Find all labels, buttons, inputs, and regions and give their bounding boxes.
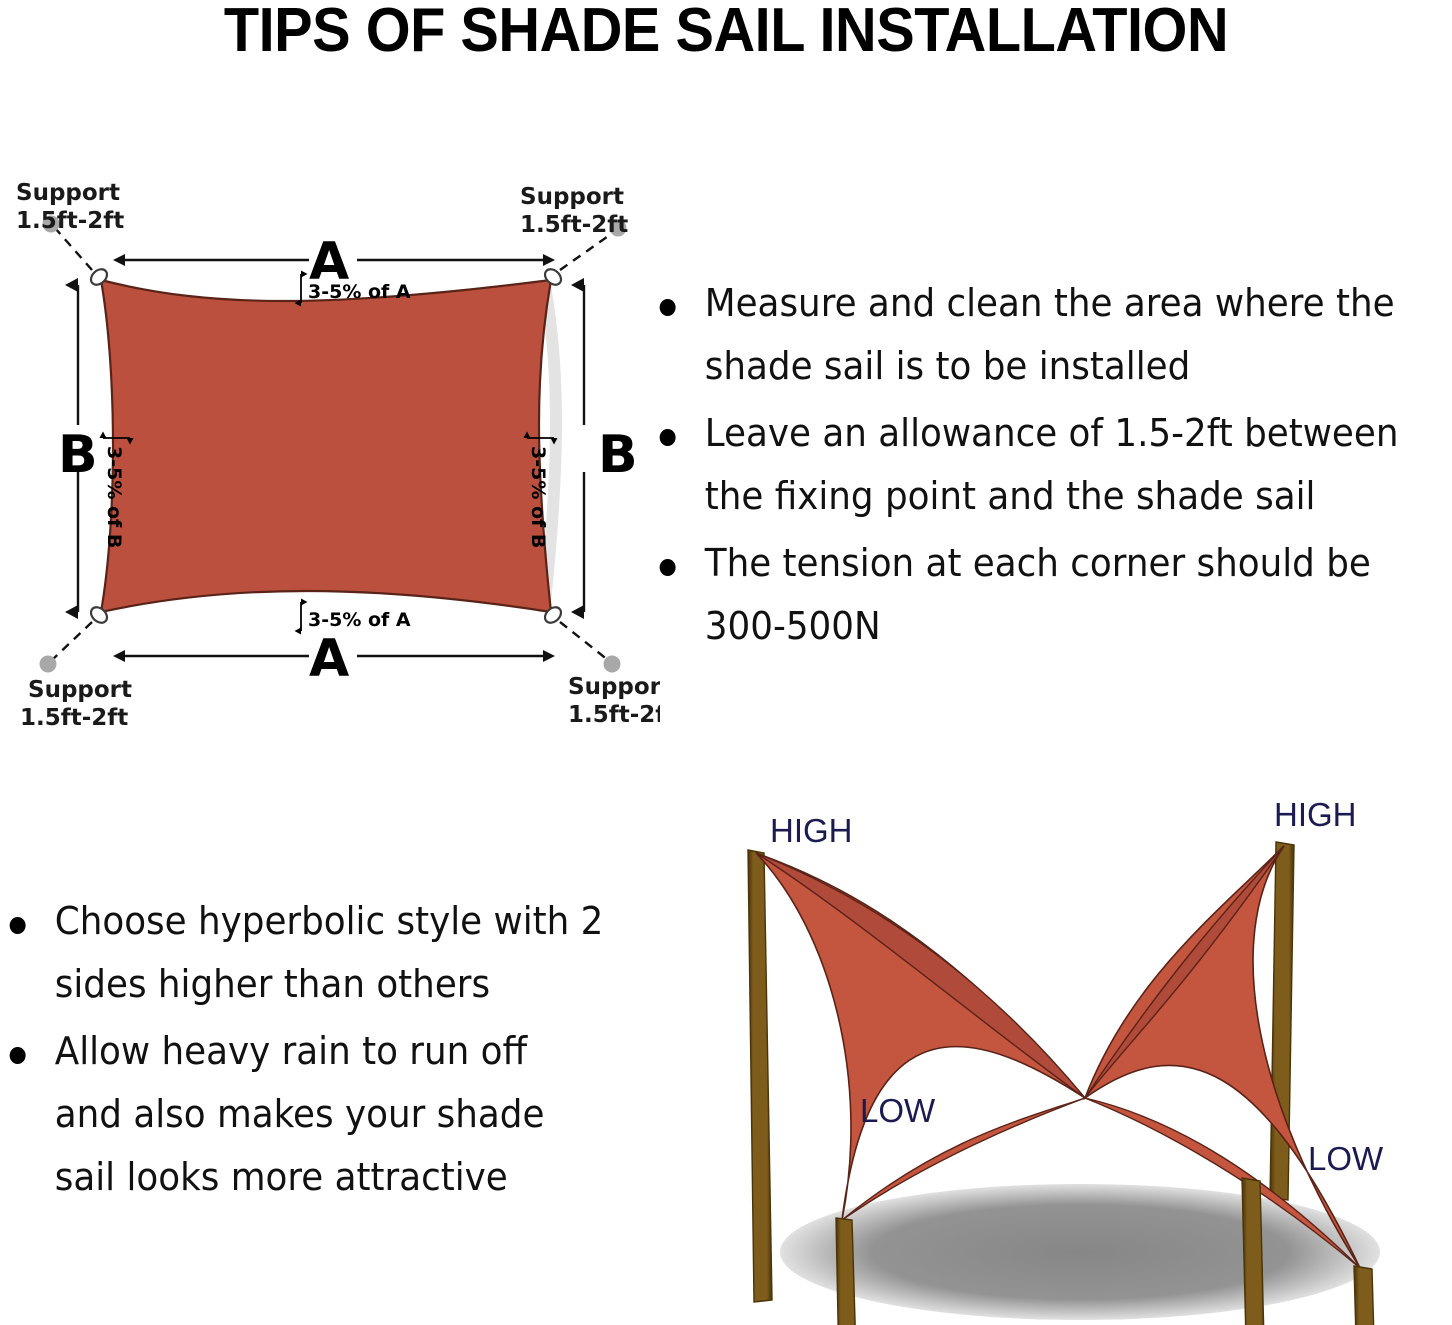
bullet-icon bbox=[660, 559, 676, 576]
installation-tips-list: Measure and clean the area where the sha… bbox=[654, 272, 1452, 662]
dimension-label-a-bottom: A bbox=[309, 629, 349, 689]
sag-label-left: 3-5% of B bbox=[103, 446, 125, 548]
support-line-bottom-left bbox=[52, 622, 92, 660]
support-label-bottom-right-line1: Support bbox=[568, 674, 660, 700]
label-low-right: LOW bbox=[1308, 1140, 1384, 1177]
bullet-icon bbox=[660, 299, 676, 316]
support-label-bottom-right-line2: 1.5ft-2ft bbox=[568, 702, 660, 728]
infographic-page: TIPS OF SHADE SAIL INSTALLATION bbox=[0, 0, 1452, 1325]
support-label-top-right-line2: 1.5ft-2ft bbox=[520, 212, 628, 238]
support-line-top-left bbox=[55, 228, 92, 270]
list-item: Leave an allowance of 1.5-2ft between th… bbox=[654, 402, 1415, 528]
list-item: Allow heavy rain to run off and also mak… bbox=[4, 1020, 606, 1209]
sag-label-top: 3-5% of A bbox=[308, 281, 411, 303]
list-item-text: Choose hyperbolic style with 2 sides hig… bbox=[55, 899, 604, 1006]
page-title: TIPS OF SHADE SAIL INSTALLATION bbox=[51, 0, 1401, 64]
bullet-icon bbox=[10, 1047, 26, 1064]
label-high-right: HIGH bbox=[1274, 796, 1357, 833]
list-item-text: Allow heavy rain to run off and also mak… bbox=[55, 1029, 545, 1199]
bullet-icon bbox=[10, 917, 26, 934]
hyperbolic-tips-list: Choose hyperbolic style with 2 sides hig… bbox=[4, 890, 644, 1213]
support-line-bottom-right bbox=[560, 622, 608, 660]
pole-high-left bbox=[748, 850, 772, 1302]
sag-label-bottom: 3-5% of A bbox=[308, 609, 411, 631]
dimension-label-b-right: B bbox=[598, 425, 638, 485]
pole-low-right bbox=[1354, 1266, 1378, 1325]
sag-label-right: 3-5% of B bbox=[527, 446, 549, 548]
support-label-bottom-left-line2: 1.5ft-2ft bbox=[20, 705, 128, 731]
support-label-bottom-left-line1: Support bbox=[28, 677, 132, 703]
list-item: Choose hyperbolic style with 2 sides hig… bbox=[4, 890, 606, 1016]
list-item: The tension at each corner should be 300… bbox=[654, 532, 1415, 658]
list-item: Measure and clean the area where the sha… bbox=[654, 272, 1415, 398]
hyperbolic-sail-diagram: HIGH HIGH LOW LOW bbox=[660, 780, 1450, 1325]
rectangular-sail-diagram: Support 1.5ft-2ft Support 1.5ft-2ft Supp… bbox=[0, 160, 660, 740]
support-label-top-right-line1: Support bbox=[520, 184, 624, 210]
list-item-text: The tension at each corner should be 300… bbox=[705, 541, 1371, 648]
list-item-text: Leave an allowance of 1.5-2ft between th… bbox=[705, 411, 1399, 518]
list-item-text: Measure and clean the area where the sha… bbox=[705, 281, 1395, 388]
support-label-top-left-line2: 1.5ft-2ft bbox=[16, 208, 124, 234]
dimension-label-b-left: B bbox=[58, 425, 98, 485]
support-label-top-left-line1: Support bbox=[16, 180, 120, 206]
support-dot-bottom-right bbox=[604, 656, 621, 673]
ground-shadow bbox=[780, 1184, 1380, 1320]
shade-sail-shape bbox=[101, 280, 551, 612]
support-dot-bottom-left bbox=[40, 656, 57, 673]
label-high-left: HIGH bbox=[770, 812, 853, 849]
bullet-icon bbox=[660, 429, 676, 446]
label-low-left: LOW bbox=[860, 1092, 936, 1129]
